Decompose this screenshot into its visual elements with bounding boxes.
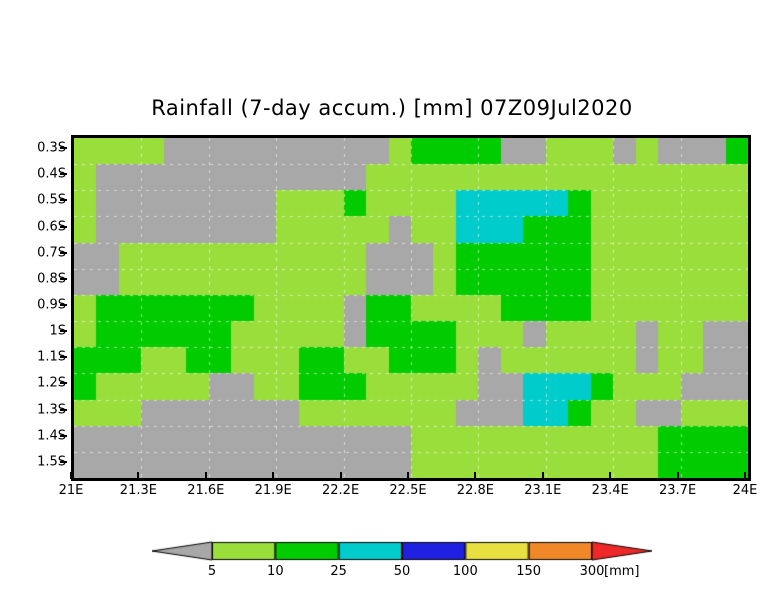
x-axis-tick-mark	[205, 472, 207, 479]
y-axis-tick-label: 0.7S	[6, 245, 66, 260]
y-axis-tick-label: 1.3S	[6, 402, 66, 417]
plot-area	[71, 135, 751, 481]
x-axis-tick-label: 22.5E	[389, 483, 426, 498]
x-axis-tick-label: 24E	[733, 483, 758, 498]
x-axis-tick-label: 23.4E	[592, 483, 629, 498]
x-axis-tick-label: 22.8E	[457, 483, 494, 498]
x-axis-tick-label: 23.1E	[524, 483, 561, 498]
y-axis-tick-mark	[60, 382, 67, 384]
y-axis-tick-mark	[60, 173, 67, 175]
colorbar-level-label: 50	[394, 564, 411, 579]
rainfall-heatmap	[74, 138, 748, 478]
colorbar-level-label: 100	[453, 564, 478, 579]
y-axis-tick-mark	[60, 461, 67, 463]
x-axis-tick-mark	[677, 472, 679, 479]
x-axis-tick-label: 21.6E	[187, 483, 224, 498]
y-axis-tick-label: 1.1S	[6, 350, 66, 365]
x-axis-tick-mark	[340, 472, 342, 479]
page-title: Rainfall (7-day accum.) [mm] 07Z09Jul202…	[0, 96, 784, 120]
y-axis-tick-mark	[60, 304, 67, 306]
x-axis-tick-mark	[474, 472, 476, 479]
y-axis-tick-label: 0.8S	[6, 271, 66, 286]
colorbar-swatches	[152, 540, 652, 562]
colorbar-level-label: 150	[516, 564, 541, 579]
y-axis-tick-label: 0.3S	[6, 141, 66, 156]
x-axis-tick-label: 21.9E	[255, 483, 292, 498]
y-axis-tick-mark	[60, 199, 67, 201]
x-axis: 21E21.3E21.6E21.9E22.2E22.5E22.8E23.1E23…	[71, 479, 745, 503]
y-axis-tick-label: 1.2S	[6, 376, 66, 391]
chart-page: Rainfall (7-day accum.) [mm] 07Z09Jul202…	[0, 0, 784, 612]
y-axis-tick-mark	[60, 435, 67, 437]
y-axis-tick-label: 1S	[6, 324, 66, 339]
y-axis-tick-label: 0.9S	[6, 298, 66, 313]
x-axis-tick-mark	[744, 472, 746, 479]
y-axis-tick-mark	[60, 356, 67, 358]
y-axis-tick-label: 0.5S	[6, 193, 66, 208]
colorbar-level-label: 5	[208, 564, 216, 579]
x-axis-tick-mark	[70, 472, 72, 479]
y-axis-tick-mark	[60, 147, 67, 149]
y-axis-tick-mark	[60, 409, 67, 411]
x-axis-tick-mark	[542, 472, 544, 479]
x-axis-tick-label: 22.2E	[322, 483, 359, 498]
colorbar-level-label: 300	[580, 564, 605, 579]
y-axis-tick-mark	[60, 226, 67, 228]
y-axis: 0.3S0.4S0.5S0.6S0.7S0.8S0.9S1S1.1S1.2S1.…	[0, 135, 66, 475]
y-axis-tick-label: 0.4S	[6, 167, 66, 182]
colorbar-level-label: 25	[330, 564, 347, 579]
x-axis-tick-mark	[137, 472, 139, 479]
x-axis-tick-label: 21.3E	[120, 483, 157, 498]
colorbar-level-label: 10	[267, 564, 284, 579]
y-axis-tick-mark	[60, 278, 67, 280]
x-axis-tick-mark	[407, 472, 409, 479]
y-axis-tick-label: 1.4S	[6, 428, 66, 443]
x-axis-tick-label: 23.7E	[659, 483, 696, 498]
x-axis-tick-mark	[272, 472, 274, 479]
x-axis-tick-mark	[609, 472, 611, 479]
x-axis-tick-label: 21E	[59, 483, 84, 498]
colorbar-unit-label: [mm]	[604, 564, 639, 579]
y-axis-tick-label: 0.6S	[6, 219, 66, 234]
colorbar-legend: [mm] 5102550100150300	[152, 540, 652, 586]
y-axis-tick-mark	[60, 330, 67, 332]
y-axis-tick-mark	[60, 252, 67, 254]
y-axis-tick-label: 1.5S	[6, 454, 66, 469]
